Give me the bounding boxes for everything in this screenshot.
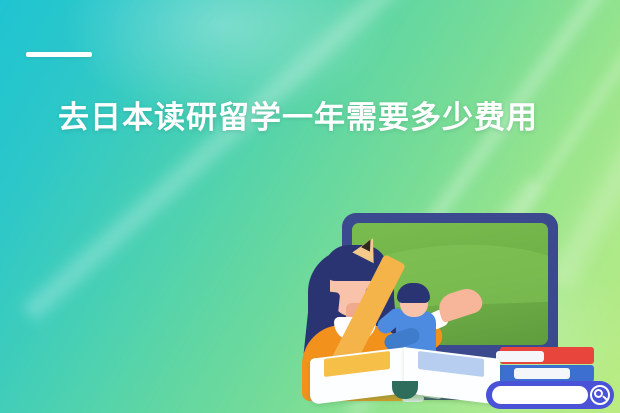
book-blue-pages (514, 368, 570, 379)
search-input[interactable] (492, 386, 588, 404)
book-red-pages (496, 351, 544, 362)
education-illustration (300, 205, 620, 413)
article-cover-banner: 去日本读研留学一年需要多少费用 (0, 0, 620, 413)
title-accent-dash (26, 52, 92, 57)
page-title: 去日本读研留学一年需要多少费用 (58, 99, 538, 138)
boy-hair (397, 283, 430, 303)
